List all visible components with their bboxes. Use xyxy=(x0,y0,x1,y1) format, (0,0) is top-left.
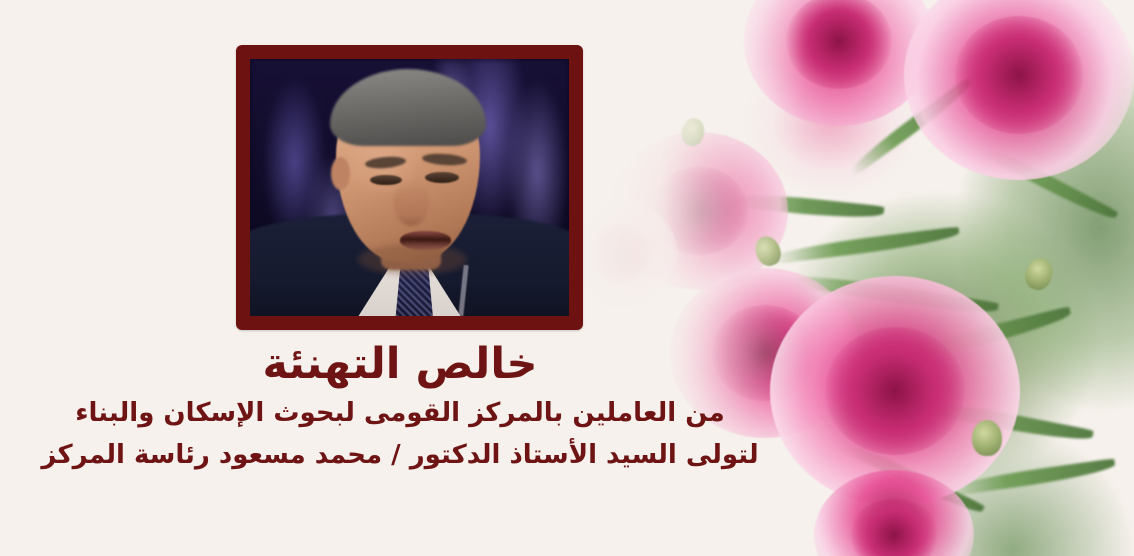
leaf-icon xyxy=(904,394,1094,446)
flower-icon xyxy=(744,0,934,126)
flower-bud-icon xyxy=(679,116,706,148)
flower-icon xyxy=(610,132,788,290)
flower-icon xyxy=(814,470,974,556)
portrait-photo xyxy=(250,59,569,316)
leaf-icon xyxy=(846,77,976,176)
greeting-headline: خالص التهنئة xyxy=(0,340,800,388)
leaf-icon xyxy=(784,269,999,318)
flower-icon xyxy=(574,200,678,308)
flower-bud-icon xyxy=(972,420,1002,456)
eye-left-shape xyxy=(370,175,402,186)
leaf-icon xyxy=(770,226,960,264)
flower-bud-icon xyxy=(751,233,784,270)
congratulation-card: خالص التهنئة من العاملين بالمركز القومى … xyxy=(0,0,1134,556)
nose-shape xyxy=(394,182,429,226)
greeting-text-block: خالص التهنئة من العاملين بالمركز القومى … xyxy=(0,340,800,475)
flower-icon xyxy=(904,0,1134,180)
leaf-icon xyxy=(835,436,985,519)
leaf-icon xyxy=(875,306,1073,371)
leaf-icon xyxy=(946,458,1116,497)
greeting-line-2: لتولى السيد الأستاذ الدكتور / محمد مسعود… xyxy=(0,436,800,476)
portrait-frame xyxy=(236,45,583,330)
greeting-line-1: من العاملين بالمركز القومى لبحوث الإسكان… xyxy=(0,394,800,434)
flower-icon xyxy=(770,276,1020,506)
flower-bud-icon xyxy=(1022,255,1057,293)
jaw-shadow xyxy=(358,244,466,275)
eye-right-shape xyxy=(425,172,458,183)
leaf-icon xyxy=(724,190,885,223)
leaf-icon xyxy=(979,142,1118,225)
